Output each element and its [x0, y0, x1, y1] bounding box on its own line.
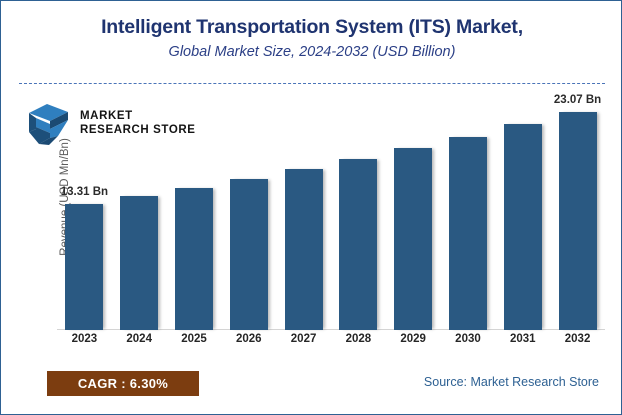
bar-series: 13.31 Bn23.07 Bn	[57, 97, 605, 330]
header-divider	[19, 83, 605, 84]
x-axis-tick-2027: 2027	[276, 333, 331, 345]
x-axis-tick-2028: 2028	[331, 333, 386, 345]
bar-value-label: 13.31 Bn	[61, 186, 108, 198]
bar-slot	[221, 97, 276, 330]
x-axis-tick-2032: 2032	[550, 333, 605, 345]
bar[interactable]	[230, 179, 268, 330]
x-axis-tick-2025: 2025	[167, 333, 222, 345]
source-note: Source: Market Research Store	[424, 375, 599, 389]
x-axis-tick-2024: 2024	[112, 333, 167, 345]
bar-slot	[167, 97, 222, 330]
bar[interactable]	[120, 196, 158, 330]
x-axis-tick-2029: 2029	[386, 333, 441, 345]
bar[interactable]	[339, 159, 377, 330]
bar[interactable]	[559, 112, 597, 331]
x-axis-tick-labels: 2023202420252026202720282029203020312032	[57, 333, 605, 345]
bar[interactable]	[504, 124, 542, 330]
plot-area: Revenue (USD Mn/Bn) 13.31 Bn23.07 Bn	[57, 97, 605, 330]
bar[interactable]	[394, 148, 432, 330]
x-axis-tick-2030: 2030	[441, 333, 496, 345]
bar-slot	[331, 97, 386, 330]
cagr-badge: CAGR : 6.30%	[47, 371, 199, 396]
bar-slot: 23.07 Bn	[550, 97, 605, 330]
x-axis-tick-2023: 2023	[57, 333, 112, 345]
bar[interactable]	[449, 137, 487, 330]
chart-subtitle: Global Market Size, 2024-2032 (USD Billi…	[1, 44, 622, 60]
chart-header: Intelligent Transportation System (ITS) …	[1, 15, 622, 60]
chart-card: Intelligent Transportation System (ITS) …	[0, 0, 622, 415]
bar-slot: 13.31 Bn	[57, 97, 112, 330]
bar-slot	[441, 97, 496, 330]
bar-slot	[386, 97, 441, 330]
bar-slot	[276, 97, 331, 330]
bar[interactable]	[175, 188, 213, 330]
bar-slot	[112, 97, 167, 330]
bar-value-label: 23.07 Bn	[554, 94, 601, 106]
x-axis-tick-2026: 2026	[221, 333, 276, 345]
bar-slot	[495, 97, 550, 330]
bar[interactable]	[285, 169, 323, 330]
x-axis-tick-2031: 2031	[495, 333, 550, 345]
bar[interactable]	[65, 204, 103, 330]
page-title: Intelligent Transportation System (ITS) …	[1, 15, 622, 39]
